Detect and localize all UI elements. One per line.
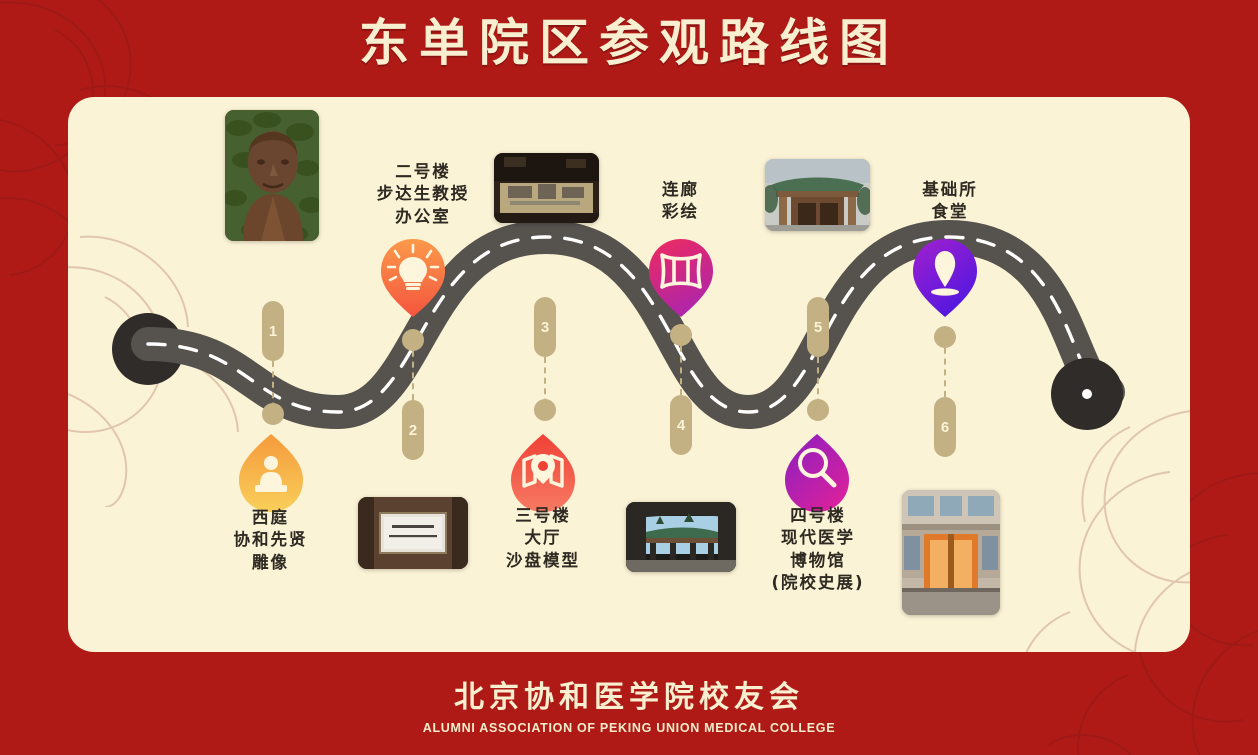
stop-badge-number-5: 5 xyxy=(807,297,829,357)
stop-5-pin[interactable] xyxy=(781,430,853,514)
stop-badge-number-1: 1 xyxy=(262,301,284,361)
footer-org-en: ALUMNI ASSOCIATION OF PEKING UNION MEDIC… xyxy=(0,721,1258,735)
stop-badge-number-4: 4 xyxy=(670,395,692,455)
badge-dash-2 xyxy=(412,340,414,400)
stop-1-pin[interactable] xyxy=(235,430,307,514)
lightbulb-icon[interactable] xyxy=(377,235,449,319)
stop-badge-number-6: 6 xyxy=(934,397,956,457)
canteen-photo[interactable] xyxy=(902,490,1000,615)
stop-badge-3: 3 xyxy=(534,297,556,415)
page-title: 东单院区参观路线图 xyxy=(359,16,899,71)
stop-badge-6: 6 xyxy=(934,337,956,457)
page-title-bar: 东单院区参观路线图 xyxy=(0,16,1258,71)
map-location-icon[interactable] xyxy=(507,430,579,514)
location-drop-icon[interactable] xyxy=(909,235,981,319)
stop-5-label: 四号楼 现代医学 博物馆 (院校史展) xyxy=(733,505,903,594)
stop-3-label: 三号楼 大厅 沙盘模型 xyxy=(463,505,623,572)
stop-3-photo-wrap[interactable] xyxy=(494,153,599,223)
stop-2-photo-wrap[interactable] xyxy=(358,497,468,569)
bronze-bust-photo[interactable] xyxy=(225,110,319,241)
magnifier-icon[interactable] xyxy=(781,430,853,514)
gate-photo[interactable] xyxy=(765,159,870,231)
stop-3-pin[interactable] xyxy=(507,430,579,514)
stop-1-photo-wrap[interactable] xyxy=(225,110,319,241)
stop-5-photo-wrap[interactable] xyxy=(765,159,870,231)
badge-dash-1 xyxy=(272,361,274,419)
footer-org-cn: 北京协和医学院校友会 xyxy=(0,680,1258,716)
stop-2-pin[interactable] xyxy=(377,235,449,319)
stop-6-label: 基础所 食堂 xyxy=(880,179,1020,224)
footer: 北京协和医学院校友会 ALUMNI ASSOCIATION OF PEKING … xyxy=(0,680,1258,735)
badge-dash-5 xyxy=(817,357,819,415)
stop-badge-number-3: 3 xyxy=(534,297,556,357)
stop-4-photo-wrap[interactable] xyxy=(626,502,736,572)
stop-6-photo-wrap[interactable] xyxy=(902,490,1000,615)
stop-badge-1: 1 xyxy=(262,301,284,419)
door-plaque-photo[interactable] xyxy=(358,497,468,569)
stop-badge-5: 5 xyxy=(807,297,829,415)
stop-4-pin[interactable] xyxy=(645,235,717,319)
statue-icon[interactable] xyxy=(235,430,307,514)
stop-6-pin[interactable] xyxy=(909,235,981,319)
stop-4-label: 连廊 彩绘 xyxy=(613,179,748,224)
route-map-card: 1 2 3 4 5 6 xyxy=(68,97,1190,652)
stop-badge-4: 4 xyxy=(670,335,692,455)
stop-1-label: 西庭 协和先贤 雕像 xyxy=(188,507,353,574)
stop-badge-number-2: 2 xyxy=(402,400,424,460)
stop-2-label: 二号楼 步达生教授 办公室 xyxy=(338,161,508,228)
badge-dash-3 xyxy=(544,357,546,415)
badge-dash-6 xyxy=(944,337,946,397)
corridor-photo[interactable] xyxy=(626,502,736,572)
sand-table-photo[interactable] xyxy=(494,153,599,223)
badge-dash-4 xyxy=(680,335,682,395)
stop-badge-2: 2 xyxy=(402,340,424,460)
gallery-panorama-icon[interactable] xyxy=(645,235,717,319)
